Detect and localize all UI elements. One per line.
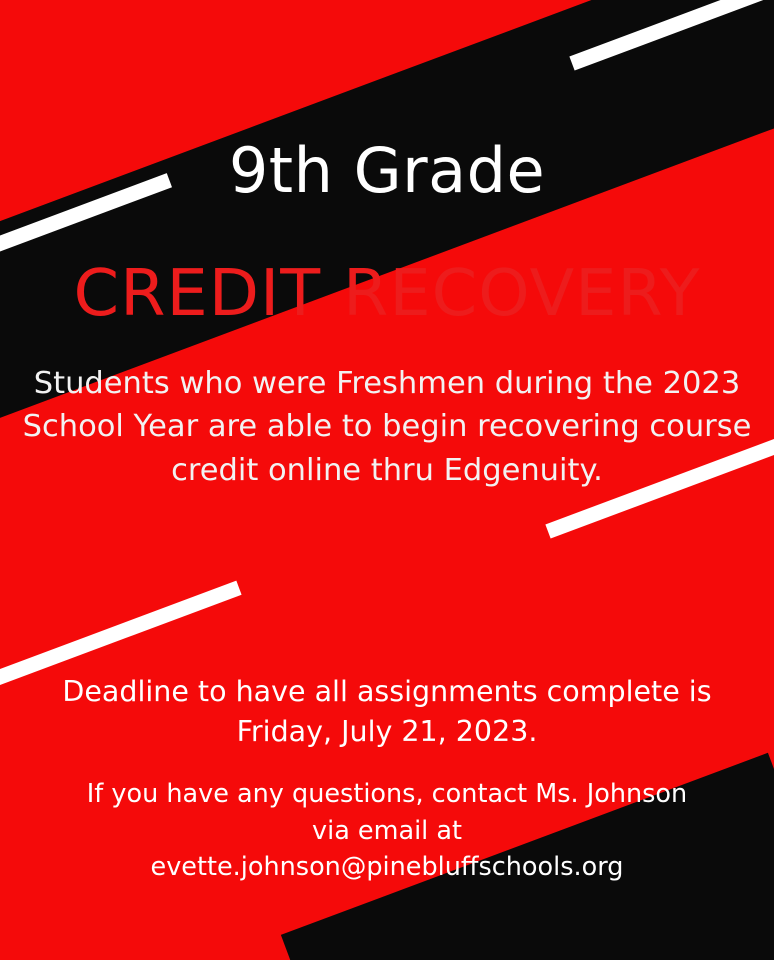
contact-paragraph: If you have any questions, contact Ms. J… <box>14 776 760 886</box>
contact-line-1: If you have any questions, contact Ms. J… <box>14 776 760 813</box>
grade-heading: 9th Grade <box>0 140 774 202</box>
deadline-line-1: Deadline to have all assignments complet… <box>14 672 760 712</box>
deadline-line-2: Friday, July 21, 2023. <box>14 712 760 752</box>
deadline-paragraph: Deadline to have all assignments complet… <box>14 672 760 753</box>
body-line-3: credit online thru Edgenuity. <box>14 449 760 492</box>
body-line-1: Students who were Freshmen during the 20… <box>14 362 760 405</box>
flyer-content: 9th Grade CREDIT RECOVERY Students who w… <box>0 0 774 960</box>
contact-line-2: via email at <box>14 813 760 850</box>
body-line-2: School Year are able to begin recovering… <box>14 405 760 448</box>
credit-recovery-flyer: 9th Grade CREDIT RECOVERY Students who w… <box>0 0 774 960</box>
contact-email[interactable]: evette.johnson@pinebluffschools.org <box>14 849 760 886</box>
program-heading: CREDIT RECOVERY <box>0 262 774 326</box>
body-paragraph: Students who were Freshmen during the 20… <box>14 362 760 492</box>
